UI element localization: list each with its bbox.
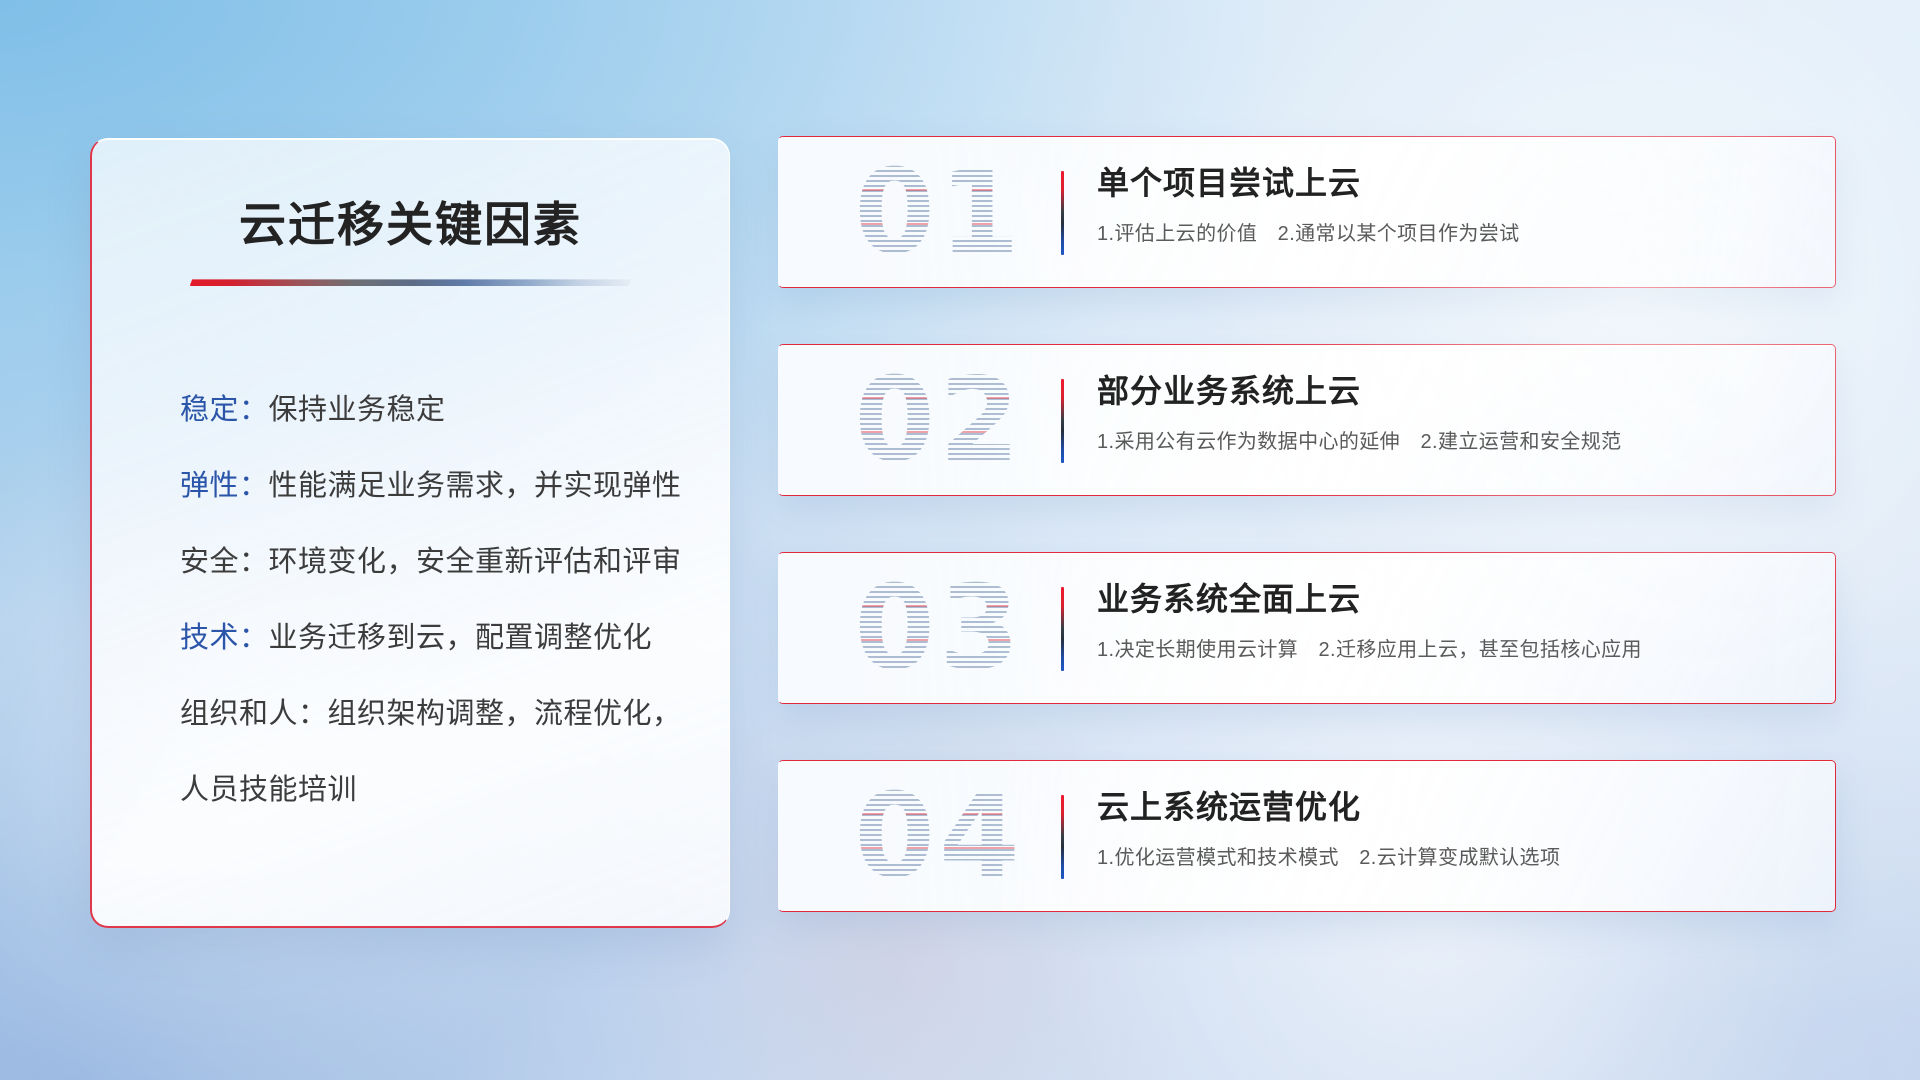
step-number-glyph-04: 04 [854, 779, 1023, 895]
factor-text-4: 业务迁移到云，配置调整优化 [269, 622, 653, 654]
migration-steps-list: 01 01 单个项目尝试上云 1.评估上云的价值 2.通常以某个项目作为尝试 0… [778, 136, 1836, 912]
factor-text-3: 环境变化，安全重新评估和评审 [269, 546, 682, 578]
factors-list: 稳定：保持业务稳定 弹性：性能满足业务需求，并实现弹性 安全：环境变化，安全重新… [140, 372, 681, 828]
page-title: 云迁移关键因素 [140, 197, 681, 253]
step-divider-03 [1061, 587, 1064, 671]
key-factors-panel-inner: 云迁移关键因素 稳定：保持业务稳定 弹性：性能满足业务需求，并实现弹性 安全：环… [92, 139, 729, 926]
factor-label-2: 弹性： [180, 470, 269, 502]
step-number-glyph-accent-03: 03 [809, 571, 1069, 687]
step-body-03: 业务系统全面上云 1.决定长期使用云计算 2.迁移应用上云，甚至包括核心应用 [1097, 579, 1805, 662]
factor-text-2: 性能满足业务需求，并实现弹性 [269, 470, 682, 502]
step-number-glyph-01: 01 [854, 155, 1023, 271]
step-title-04: 云上系统运营优化 [1097, 787, 1805, 827]
factor-item-6: 人员技能培训 [180, 752, 681, 828]
factor-text-6: 人员技能培训 [180, 774, 357, 806]
card-border-fade-03 [779, 552, 1079, 704]
key-factors-panel: 云迁移关键因素 稳定：保持业务稳定 弹性：性能满足业务需求，并实现弹性 安全：环… [90, 138, 730, 928]
step-subtitle-01: 1.评估上云的价值 2.通常以某个项目作为尝试 [1097, 217, 1805, 246]
factor-label-3: 安全： [180, 546, 269, 578]
step-card-03[interactable]: 03 03 业务系统全面上云 1.决定长期使用云计算 2.迁移应用上云，甚至包括… [778, 552, 1836, 704]
step-number-glyph-03: 03 [854, 571, 1023, 687]
factor-text-5: 组织架构调整，流程优化， [328, 698, 682, 730]
step-number-04: 04 04 [809, 773, 1069, 901]
step-title-03: 业务系统全面上云 [1097, 579, 1805, 619]
step-number-glyph-accent-02: 02 [809, 363, 1069, 479]
step-card-04[interactable]: 04 04 云上系统运营优化 1.优化运营模式和技术模式 2.云计算变成默认选项 [778, 760, 1836, 912]
factor-item-4: 技术：业务迁移到云，配置调整优化 [180, 600, 681, 676]
card-border-fade-02 [779, 344, 1079, 496]
step-number-glyph-accent-04: 04 [809, 779, 1069, 895]
step-number-03: 03 03 [809, 565, 1069, 693]
card-border-fade-01 [779, 136, 1079, 288]
step-subtitle-04: 1.优化运营模式和技术模式 2.云计算变成默认选项 [1097, 841, 1805, 870]
step-card-02[interactable]: 02 02 部分业务系统上云 1.采用公有云作为数据中心的延伸 2.建立运营和安… [778, 344, 1836, 496]
step-divider-04 [1061, 795, 1064, 879]
step-body-04: 云上系统运营优化 1.优化运营模式和技术模式 2.云计算变成默认选项 [1097, 787, 1805, 870]
factor-item-3: 安全：环境变化，安全重新评估和评审 [180, 524, 681, 600]
factor-item-2: 弹性：性能满足业务需求，并实现弹性 [180, 448, 681, 524]
card-border-fade-04 [779, 760, 1079, 912]
step-number-glyph-02: 02 [854, 363, 1023, 479]
step-number-glyph-accent-01: 01 [809, 155, 1069, 271]
step-title-01: 单个项目尝试上云 [1097, 163, 1805, 203]
factor-label-1: 稳定： [180, 394, 269, 426]
step-subtitle-02: 1.采用公有云作为数据中心的延伸 2.建立运营和安全规范 [1097, 425, 1805, 454]
step-subtitle-03: 1.决定长期使用云计算 2.迁移应用上云，甚至包括核心应用 [1097, 633, 1805, 662]
factor-item-1: 稳定：保持业务稳定 [180, 372, 681, 448]
step-divider-02 [1061, 379, 1064, 463]
step-number-01: 01 01 [809, 149, 1069, 277]
step-number-02: 02 02 [809, 357, 1069, 485]
factor-text-1: 保持业务稳定 [269, 394, 446, 426]
step-title-02: 部分业务系统上云 [1097, 371, 1805, 411]
slide-root: 云迁移关键因素 稳定：保持业务稳定 弹性：性能满足业务需求，并实现弹性 安全：环… [0, 0, 1920, 1080]
factor-label-5: 组织和人： [180, 698, 328, 730]
title-underline-rule [190, 279, 632, 286]
step-divider-01 [1061, 171, 1064, 255]
step-card-01[interactable]: 01 01 单个项目尝试上云 1.评估上云的价值 2.通常以某个项目作为尝试 [778, 136, 1836, 288]
factor-label-4: 技术： [180, 622, 269, 654]
factor-item-5: 组织和人：组织架构调整，流程优化， [180, 676, 681, 752]
step-body-01: 单个项目尝试上云 1.评估上云的价值 2.通常以某个项目作为尝试 [1097, 163, 1805, 246]
step-body-02: 部分业务系统上云 1.采用公有云作为数据中心的延伸 2.建立运营和安全规范 [1097, 371, 1805, 454]
